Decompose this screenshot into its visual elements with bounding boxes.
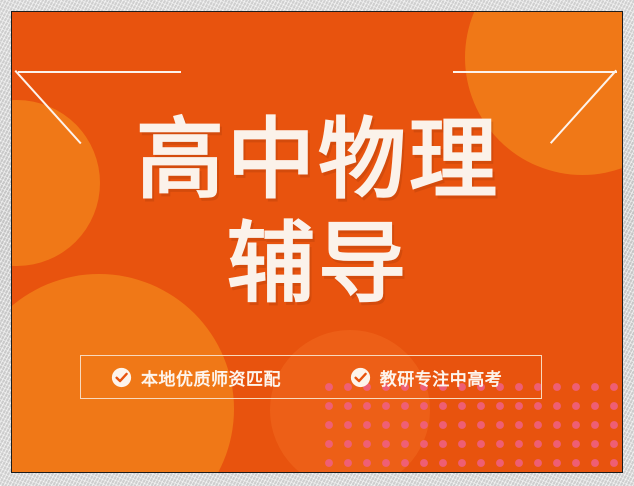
poster-canvas: 高中物理 辅导 本地优质师资匹配 教研专注中高考 [0, 0, 634, 486]
feature-badge-2[interactable]: 教研专注中高考 [311, 356, 541, 398]
feature-badge-2-label: 教研专注中高考 [380, 365, 503, 390]
feature-badge-row: 本地优质师资匹配 教研专注中高考 [80, 355, 542, 399]
feature-badge-1-label: 本地优质师资匹配 [141, 365, 281, 390]
chevron-line-top-left-horizontal [18, 71, 181, 73]
poster-plate: 高中物理 辅导 本地优质师资匹配 教研专注中高考 [11, 11, 623, 473]
check-circle-icon [350, 367, 371, 388]
chevron-line-top-right-horizontal [453, 71, 617, 73]
decorative-circle-soft-glow [270, 330, 430, 473]
feature-badge-1[interactable]: 本地优质师资匹配 [81, 356, 311, 398]
headline-block: 高中物理 辅导 [12, 116, 623, 308]
headline-secondary: 辅导 [12, 220, 623, 308]
headline-primary: 高中物理 [12, 116, 623, 204]
check-circle-icon [111, 367, 132, 388]
